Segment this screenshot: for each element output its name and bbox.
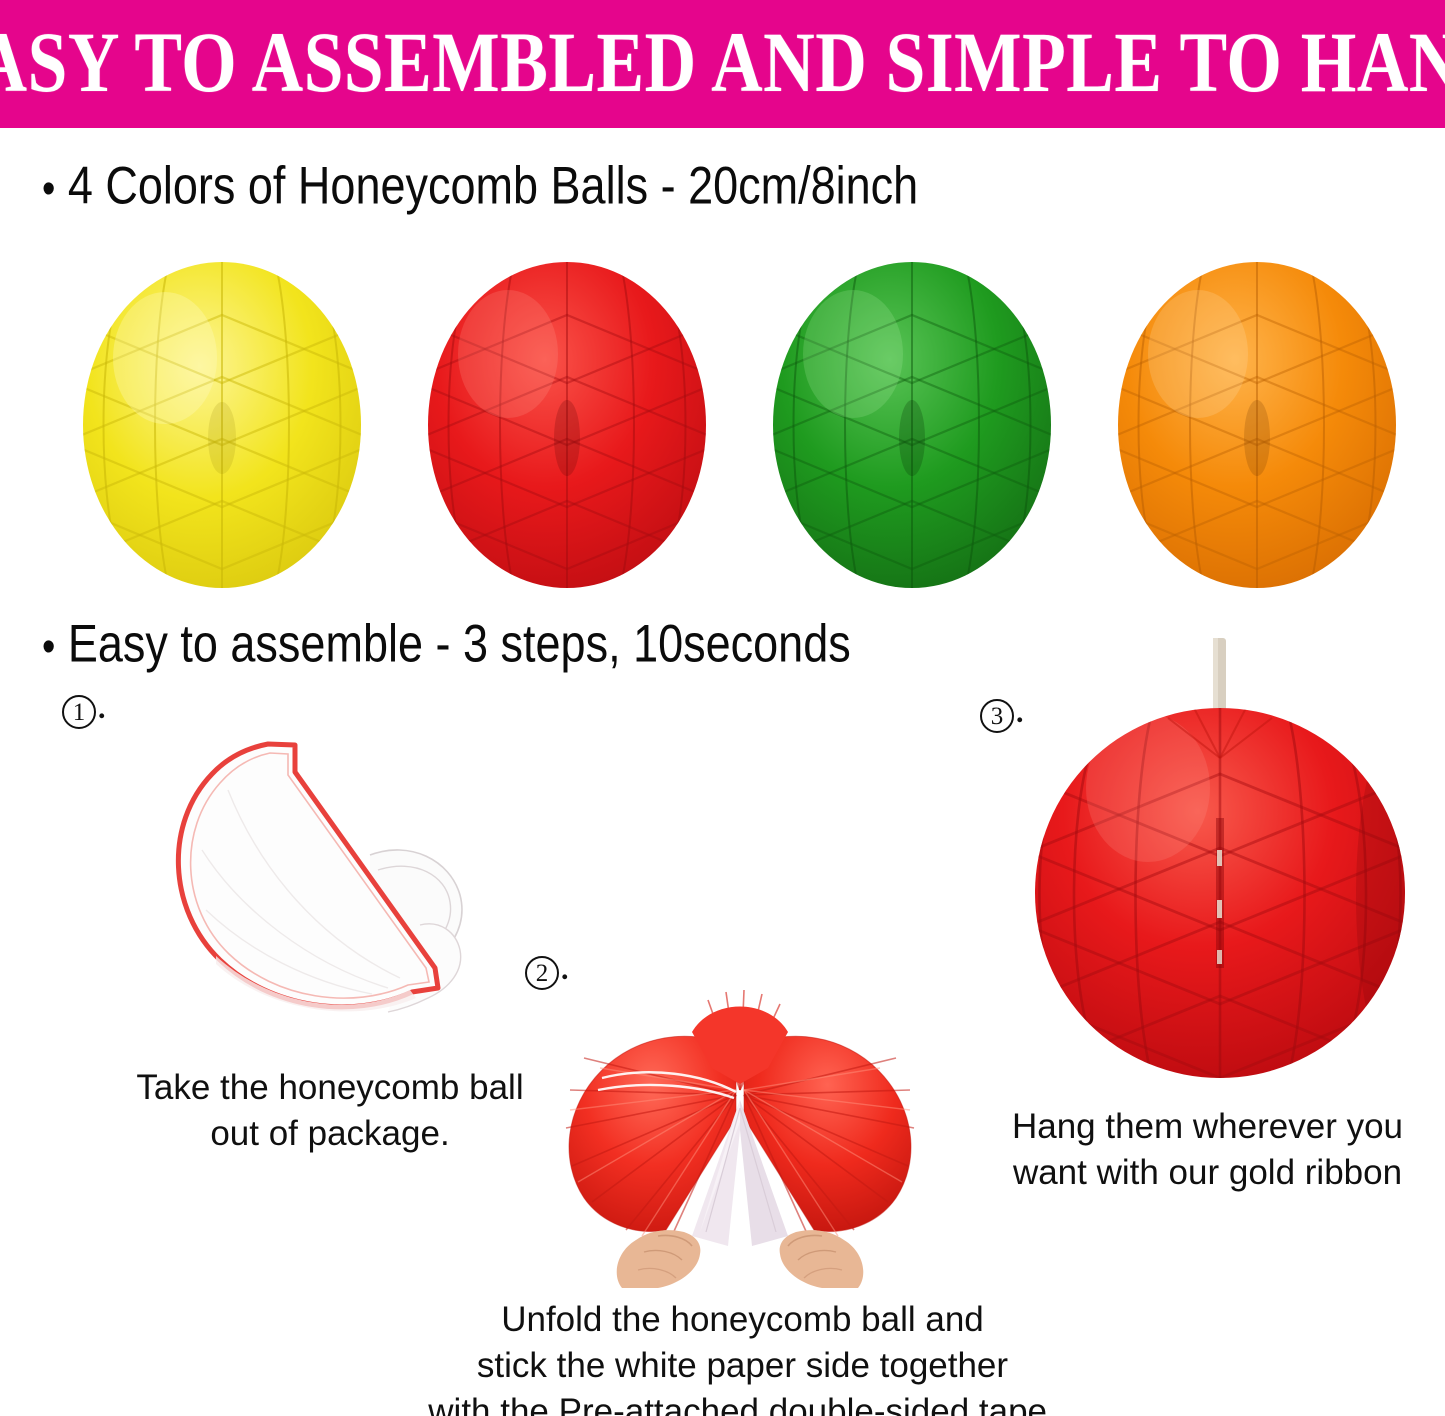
orange-ball-graphic — [1090, 258, 1424, 592]
hanging-red-ball-graphic — [1020, 638, 1420, 1103]
green-honeycomb-ball — [745, 258, 1079, 592]
orange-honeycomb-ball — [1090, 258, 1424, 592]
step-2-figure-unfolding — [540, 940, 940, 1290]
step-1-figure-flat-honeycomb — [120, 720, 550, 1060]
step-3-caption: Hang them wherever you want with our gol… — [985, 1104, 1430, 1196]
bullet-text-2: Easy to assemble - 3 steps, 10seconds — [68, 613, 851, 673]
bullet-easy-assemble: • Easy to assemble - 3 steps, 10seconds — [42, 613, 851, 674]
red-honeycomb-ball — [400, 258, 734, 592]
green-ball-graphic — [745, 258, 1079, 592]
infographic-page: EASY TO ASSEMBLED AND SIMPLE TO HANG • 4… — [0, 0, 1445, 1416]
header-banner: EASY TO ASSEMBLED AND SIMPLE TO HANG — [0, 0, 1445, 128]
flat-folded-honeycomb-graphic — [120, 720, 550, 1060]
bullet-marker-1: • — [42, 164, 55, 214]
bullet-marker-2: • — [42, 622, 55, 672]
step-1-caption: Take the honeycomb ball out of package. — [80, 1065, 580, 1157]
bullet-colors-size: • 4 Colors of Honeycomb Balls - 20cm/8in… — [42, 155, 918, 216]
honeycomb-balls-row — [0, 258, 1445, 592]
step-3-number: 3 . — [980, 698, 1024, 734]
step-2-caption: Unfold the honeycomb ball and stick the … — [415, 1297, 1070, 1416]
step-3-number-circle: 3 — [980, 699, 1014, 733]
yellow-ball-graphic — [55, 258, 389, 592]
step-1-number-suffix: . — [98, 694, 106, 730]
yellow-honeycomb-ball — [55, 258, 389, 592]
hands-unfolding-honeycomb-graphic — [540, 940, 940, 1290]
red-ball-graphic — [400, 258, 734, 592]
step-1-number: 1 . — [62, 694, 106, 730]
right-hand — [780, 1230, 864, 1288]
bullet-text-1: 4 Colors of Honeycomb Balls - 20cm/8inch — [68, 155, 918, 215]
step-3-figure-hanging-ball — [1020, 638, 1420, 1103]
step-1-number-circle: 1 — [62, 695, 96, 729]
left-hand — [617, 1230, 701, 1288]
banner-title: EASY TO ASSEMBLED AND SIMPLE TO HANG — [0, 21, 1445, 106]
